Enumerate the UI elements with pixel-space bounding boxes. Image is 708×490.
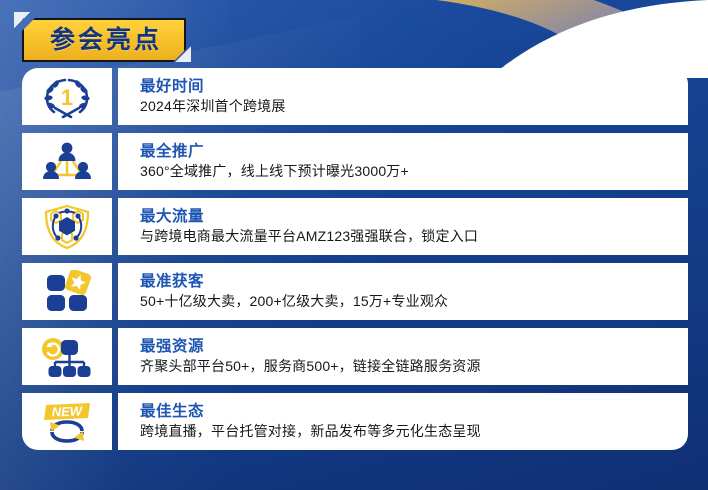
section-title-text: 参会亮点 <box>50 28 162 53</box>
highlight-text-cell: 最准获客 50+十亿级大卖，200+亿级大卖，15万+专业观众 <box>118 263 688 320</box>
highlight-text-cell: 最全推广 360°全域推广，线上线下预计曝光3000万+ <box>118 133 688 190</box>
shield-hexagon-nodes-icon <box>41 203 93 251</box>
new-banner-cycle-icon: NEW <box>38 400 96 444</box>
corner-white-curve-decoration <box>408 0 708 66</box>
highlight-icon-cell: 1 <box>22 68 112 125</box>
highlight-text-cell: 最好时间 2024年深圳首个跨境展 <box>118 68 688 125</box>
highlight-title: 最佳生态 <box>140 403 688 421</box>
highlight-title: 最强资源 <box>140 338 688 356</box>
highlight-desc: 2024年深圳首个跨境展 <box>140 98 688 115</box>
highlight-row[interactable]: 最强资源 齐聚头部平台50+，服务商500+，链接全链路服务资源 <box>22 328 688 385</box>
org-chart-refresh-icon <box>39 335 95 379</box>
highlight-icon-cell: NEW <box>22 393 112 450</box>
highlight-icon-cell <box>22 263 112 320</box>
svg-text:NEW: NEW <box>51 403 84 419</box>
highlight-desc: 跨境直播，平台托管对接，新品发布等多元化生态呈现 <box>140 423 688 440</box>
laurel-wreath-number-one-icon: 1 <box>41 74 93 120</box>
highlight-icon-cell <box>22 328 112 385</box>
poster-root: 参会亮点 <box>0 0 708 490</box>
highlight-icon-cell <box>22 198 112 255</box>
highlight-title: 最好时间 <box>140 78 688 96</box>
highlight-row[interactable]: 最全推广 360°全域推广，线上线下预计曝光3000万+ <box>22 133 688 190</box>
highlight-row[interactable]: 最准获客 50+十亿级大卖，200+亿级大卖，15万+专业观众 <box>22 263 688 320</box>
highlight-row[interactable]: NEW 最佳生态 跨境直播，平台托管对接，新品发布等多元化生态呈现 <box>22 393 688 450</box>
people-network-icon <box>40 139 94 185</box>
highlight-title: 最准获客 <box>140 273 688 291</box>
highlight-desc: 与跨境电商最大流量平台AMZ123强强联合，锁定入口 <box>140 228 688 245</box>
section-title-badge: 参会亮点 <box>22 18 186 62</box>
highlight-icon-cell <box>22 133 112 190</box>
highlight-row[interactable]: 最大流量 与跨境电商最大流量平台AMZ123强强联合，锁定入口 <box>22 198 688 255</box>
svg-text:1: 1 <box>61 85 73 110</box>
squares-star-diamond-icon <box>41 270 93 314</box>
highlight-text-cell: 最强资源 齐聚头部平台50+，服务商500+，链接全链路服务资源 <box>118 328 688 385</box>
highlight-desc: 360°全域推广，线上线下预计曝光3000万+ <box>140 163 688 180</box>
highlight-text-cell: 最佳生态 跨境直播，平台托管对接，新品发布等多元化生态呈现 <box>118 393 688 450</box>
highlight-row[interactable]: 1 最好时间 2024年深圳首个跨境展 <box>22 68 688 125</box>
highlight-title: 最全推广 <box>140 143 688 161</box>
highlight-desc: 齐聚头部平台50+，服务商500+，链接全链路服务资源 <box>140 358 688 375</box>
highlight-title: 最大流量 <box>140 208 688 226</box>
highlights-list: 1 最好时间 2024年深圳首个跨境展 <box>22 68 688 450</box>
highlight-desc: 50+十亿级大卖，200+亿级大卖，15万+专业观众 <box>140 293 688 310</box>
highlight-text-cell: 最大流量 与跨境电商最大流量平台AMZ123强强联合，锁定入口 <box>118 198 688 255</box>
